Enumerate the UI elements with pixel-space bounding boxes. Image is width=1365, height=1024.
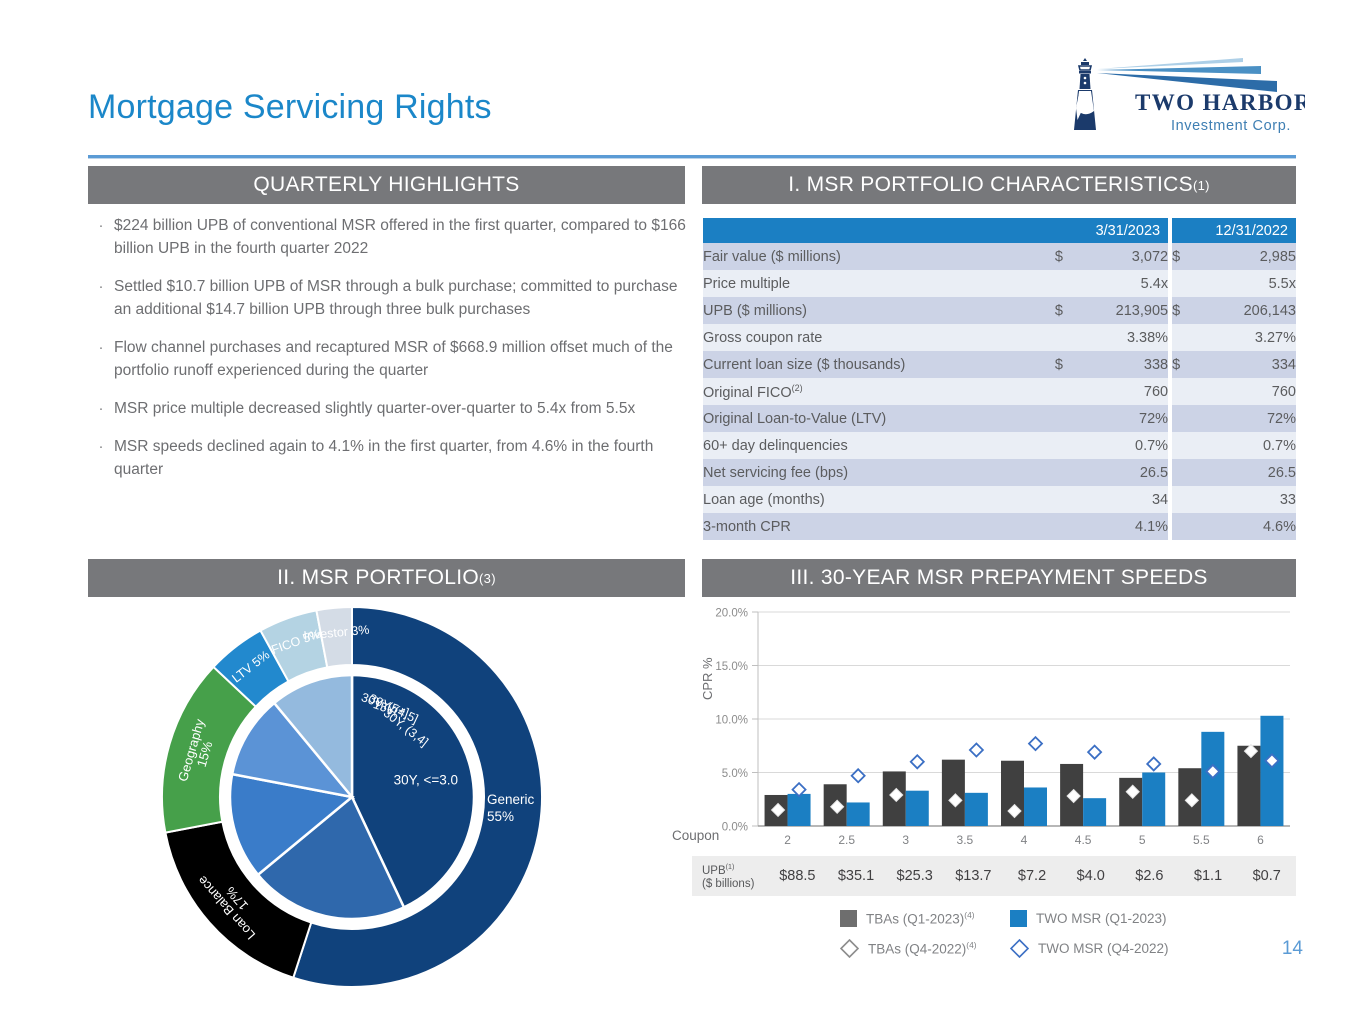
footnote-marker: (4) bbox=[964, 910, 974, 920]
highlight-bullet: ·MSR price multiple decreased slightly q… bbox=[88, 397, 688, 420]
table-cell-value-prior: 26.5 bbox=[1194, 459, 1296, 486]
table-cell-currency bbox=[1055, 486, 1077, 513]
table-row: 3-month CPR4.1%4.6% bbox=[703, 513, 1296, 540]
legend-item[interactable]: TWO MSR (Q1-2023) bbox=[1010, 910, 1200, 927]
table-cell-value-current: 3.38% bbox=[1077, 324, 1168, 351]
table-row: Price multiple5.4x5.5x bbox=[703, 270, 1296, 297]
table-cell-label-text: Original FICO bbox=[703, 384, 792, 400]
bar-two-msr-q1[interactable] bbox=[1260, 716, 1283, 826]
col-header-metric bbox=[703, 218, 1055, 243]
legend-label: TWO MSR (Q4-2022) bbox=[1038, 941, 1169, 956]
legend-square-icon bbox=[840, 910, 857, 927]
donut-inner-slice-label: 30Y, <=3.0 bbox=[394, 772, 458, 787]
legend-label: TBAs (Q1-2023)(4) bbox=[866, 910, 975, 927]
table-cell-value-prior: 33 bbox=[1194, 486, 1296, 513]
upb-values: $88.5$35.1$25.3$13.7$7.2$4.0$2.6$1.1$0.7 bbox=[768, 868, 1296, 884]
table-cell-currency bbox=[1055, 405, 1077, 432]
prepayment-speeds-chart: 0.0%5.0%10.0%15.0%20.0%22.533.544.555.56 bbox=[690, 600, 1305, 860]
bar-two-msr-q1[interactable] bbox=[788, 794, 811, 826]
light-beam-icon bbox=[1097, 58, 1277, 92]
marker-two-msr-q4[interactable] bbox=[1147, 757, 1160, 770]
table-row: Loan age (months)3433 bbox=[703, 486, 1296, 513]
table-cell-value-prior: 2,985 bbox=[1194, 243, 1296, 270]
upb-value: $35.1 bbox=[827, 868, 886, 884]
bar-two-msr-q1[interactable] bbox=[906, 791, 929, 826]
table-cell-currency bbox=[1172, 486, 1194, 513]
marker-two-msr-q4[interactable] bbox=[911, 755, 924, 768]
table-cell-value-prior: 5.5x bbox=[1194, 270, 1296, 297]
upb-value: $0.7 bbox=[1237, 868, 1296, 884]
table-cell-label: UPB ($ millions) bbox=[703, 297, 1055, 324]
upb-units-text: ($ billions) bbox=[702, 878, 754, 890]
y-tick-label: 20.0% bbox=[715, 608, 748, 620]
table-header-row: 3/31/2023 12/31/2022 bbox=[703, 218, 1296, 243]
highlight-bullet: ·$224 billion UPB of conventional MSR of… bbox=[88, 214, 688, 260]
highlight-bullet-text: MSR price multiple decreased slightly qu… bbox=[114, 397, 688, 420]
upb-value: $1.1 bbox=[1179, 868, 1238, 884]
marker-two-msr-q4[interactable] bbox=[970, 744, 983, 757]
table-cell-value-current: 34 bbox=[1077, 486, 1168, 513]
table-cell-currency: $ bbox=[1055, 351, 1077, 378]
table-cell-value-current: 4.1% bbox=[1077, 513, 1168, 540]
lighthouse-icon bbox=[1074, 58, 1096, 130]
table-row: 60+ day delinquencies0.7%0.7% bbox=[703, 432, 1296, 459]
footnote-marker: (2) bbox=[792, 383, 803, 393]
highlight-bullet-text: Flow channel purchases and recaptured MS… bbox=[114, 336, 688, 382]
table-cell-label: Net servicing fee (bps) bbox=[703, 459, 1055, 486]
bullet-dot-icon: · bbox=[88, 397, 114, 420]
svg-text:30Y, <=3.0: 30Y, <=3.0 bbox=[394, 772, 458, 787]
legend-diamond-icon bbox=[840, 939, 859, 958]
msr-characteristics-table: 3/31/2023 12/31/2022 Fair value ($ milli… bbox=[703, 218, 1296, 540]
x-tick-label: 3.5 bbox=[957, 833, 974, 847]
legend-diamond-icon bbox=[1010, 939, 1029, 958]
msr-portfolio-donut-chart: Generic55%Loan Balance17%Geography15%LTV… bbox=[120, 600, 660, 1000]
table-cell-currency bbox=[1172, 432, 1194, 459]
bullet-dot-icon: · bbox=[88, 435, 114, 481]
table-cell-value-current: 213,905 bbox=[1077, 297, 1168, 324]
legend-item[interactable]: TBAs (Q4-2022)(4) bbox=[840, 939, 1010, 958]
bar-tbas-q1[interactable] bbox=[1237, 746, 1260, 826]
upb-row: UPB(1) ($ billions) $88.5$35.1$25.3$13.7… bbox=[692, 856, 1296, 896]
table-cell-label: Loan age (months) bbox=[703, 486, 1055, 513]
table-cell-label: 3-month CPR bbox=[703, 513, 1055, 540]
table-row: Gross coupon rate3.38%3.27% bbox=[703, 324, 1296, 351]
table-cell-value-current: 338 bbox=[1077, 351, 1168, 378]
bar-two-msr-q1[interactable] bbox=[1142, 773, 1165, 827]
table-cell-currency: $ bbox=[1055, 297, 1077, 324]
y-tick-label: 0.0% bbox=[722, 822, 748, 834]
highlight-bullet-text: MSR speeds declined again to 4.1% in the… bbox=[114, 435, 688, 481]
table-cell-value-current: 72% bbox=[1077, 405, 1168, 432]
bar-chart-svg: 0.0%5.0%10.0%15.0%20.0%22.533.544.555.56 bbox=[690, 600, 1305, 850]
section-header-label: III. 30-YEAR MSR PREPAYMENT SPEEDS bbox=[790, 566, 1207, 590]
section-header-prepayment-speeds: III. 30-YEAR MSR PREPAYMENT SPEEDS bbox=[702, 559, 1296, 597]
table-cell-value-current: 0.7% bbox=[1077, 432, 1168, 459]
table-cell-value-prior: 760 bbox=[1194, 378, 1296, 405]
table-cell-label: Current loan size ($ thousands) bbox=[703, 351, 1055, 378]
bar-two-msr-q1[interactable] bbox=[965, 793, 988, 826]
table-cell-currency bbox=[1055, 324, 1077, 351]
table-cell-currency bbox=[1172, 324, 1194, 351]
highlight-bullet-text: Settled $10.7 billion UPB of MSR through… bbox=[114, 275, 688, 321]
marker-two-msr-q4[interactable] bbox=[1029, 737, 1042, 750]
table-cell-currency bbox=[1055, 459, 1077, 486]
table-cell-label: Gross coupon rate bbox=[703, 324, 1055, 351]
table-cell-value-prior: 334 bbox=[1194, 351, 1296, 378]
bullet-dot-icon: · bbox=[88, 275, 114, 321]
table-row: Original Loan-to-Value (LTV)72%72% bbox=[703, 405, 1296, 432]
upb-value: $13.7 bbox=[944, 868, 1003, 884]
table-cell-label: Fair value ($ millions) bbox=[703, 243, 1055, 270]
table-cell-value-current: 3,072 bbox=[1077, 243, 1168, 270]
table-row: UPB ($ millions)$213,905$206,143 bbox=[703, 297, 1296, 324]
bar-two-msr-q1[interactable] bbox=[1083, 798, 1106, 826]
legend-label: TBAs (Q4-2022)(4) bbox=[868, 940, 977, 957]
two-harbors-logo: TWO HARBORS Investment Corp. bbox=[1065, 48, 1305, 144]
upb-value: $7.2 bbox=[1003, 868, 1062, 884]
table-cell-value-current: 760 bbox=[1077, 378, 1168, 405]
x-tick-label: 5.5 bbox=[1193, 833, 1210, 847]
table-cell-value-prior: 4.6% bbox=[1194, 513, 1296, 540]
table-cell-currency bbox=[1172, 270, 1194, 297]
section-header-quarterly-highlights: QUARTERLY HIGHLIGHTS bbox=[88, 166, 685, 204]
logo-svg: TWO HARBORS Investment Corp. bbox=[1065, 48, 1305, 144]
upb-value: $2.6 bbox=[1120, 868, 1179, 884]
legend-label: TWO MSR (Q1-2023) bbox=[1036, 911, 1167, 926]
table-cell-currency bbox=[1172, 513, 1194, 540]
table-cell-currency bbox=[1055, 378, 1077, 405]
table-cell-value-prior: 3.27% bbox=[1194, 324, 1296, 351]
page-title: Mortgage Servicing Rights bbox=[88, 88, 492, 127]
table-cell-currency: $ bbox=[1172, 243, 1194, 270]
bullet-dot-icon: · bbox=[88, 214, 114, 260]
table-cell-currency bbox=[1055, 432, 1077, 459]
highlight-bullet: ·Flow channel purchases and recaptured M… bbox=[88, 336, 688, 382]
highlight-bullet-text: $224 billion UPB of conventional MSR off… bbox=[114, 214, 688, 260]
table-cell-currency: $ bbox=[1172, 297, 1194, 324]
upb-value: $25.3 bbox=[885, 868, 944, 884]
y-tick-label: 5.0% bbox=[722, 768, 748, 780]
table-cell-currency bbox=[1172, 378, 1194, 405]
table-head: 3/31/2023 12/31/2022 bbox=[703, 218, 1296, 243]
x-tick-label: 4.5 bbox=[1075, 833, 1092, 847]
table-cell-label: Price multiple bbox=[703, 270, 1055, 297]
table-cell-value-current: 5.4x bbox=[1077, 270, 1168, 297]
table-cell-currency bbox=[1055, 513, 1077, 540]
legend-item[interactable]: TWO MSR (Q4-2022) bbox=[1010, 939, 1200, 958]
bar-tbas-q1[interactable] bbox=[1119, 778, 1142, 826]
table-cell-value-prior: 0.7% bbox=[1194, 432, 1296, 459]
legend-square-icon bbox=[1010, 910, 1027, 927]
upb-row-label: UPB(1) ($ billions) bbox=[692, 861, 768, 891]
table-cell-value-prior: 72% bbox=[1194, 405, 1296, 432]
y-tick-label: 15.0% bbox=[715, 661, 748, 673]
table-row: Net servicing fee (bps)26.526.5 bbox=[703, 459, 1296, 486]
section-header-label: II. MSR PORTFOLIO bbox=[277, 566, 479, 590]
x-tick-label: 3 bbox=[902, 833, 909, 847]
table-cell-currency bbox=[1172, 459, 1194, 486]
highlight-bullet: ·MSR speeds declined again to 4.1% in th… bbox=[88, 435, 688, 481]
footnote-marker: (4) bbox=[966, 940, 976, 950]
section-header-msr-portfolio-characteristics: I. MSR PORTFOLIO CHARACTERISTICS(1) bbox=[702, 166, 1296, 204]
table-cell-value-current: 26.5 bbox=[1077, 459, 1168, 486]
x-tick-label: 4 bbox=[1021, 833, 1028, 847]
upb-label-text: UPB bbox=[702, 865, 726, 877]
col-header-current: 3/31/2023 bbox=[1055, 218, 1168, 243]
section-header-msr-portfolio: II. MSR PORTFOLIO(3) bbox=[88, 559, 685, 597]
page-number: 14 bbox=[1282, 938, 1303, 960]
highlight-bullet: ·Settled $10.7 billion UPB of MSR throug… bbox=[88, 275, 688, 321]
upb-footnote-marker: (1) bbox=[726, 863, 735, 871]
x-tick-label: 2.5 bbox=[838, 833, 855, 847]
marker-two-msr-q4[interactable] bbox=[852, 769, 865, 782]
bar-two-msr-q1[interactable] bbox=[847, 802, 870, 826]
table-cell-currency: $ bbox=[1055, 243, 1077, 270]
section-header-label: I. MSR PORTFOLIO CHARACTERISTICS bbox=[788, 173, 1193, 197]
bullet-dot-icon: · bbox=[88, 336, 114, 382]
chart-legend: TBAs (Q1-2023)(4)TWO MSR (Q1-2023) TBAs … bbox=[840, 910, 1240, 958]
x-tick-label: 2 bbox=[784, 833, 791, 847]
x-tick-label: 5 bbox=[1139, 833, 1146, 847]
table-cell-currency: $ bbox=[1172, 351, 1194, 378]
x-tick-label: 6 bbox=[1257, 833, 1264, 847]
table-row: Current loan size ($ thousands)$338$334 bbox=[703, 351, 1296, 378]
y-tick-label: 10.0% bbox=[715, 715, 748, 727]
section-header-label: QUARTERLY HIGHLIGHTS bbox=[253, 173, 519, 197]
bar-two-msr-q1[interactable] bbox=[1024, 787, 1047, 826]
table-cell-currency bbox=[1055, 270, 1077, 297]
table-row: Fair value ($ millions)$3,072$2,985 bbox=[703, 243, 1296, 270]
table-cell-currency bbox=[1172, 405, 1194, 432]
table-row: Original FICO(2)760760 bbox=[703, 378, 1296, 405]
title-divider-light bbox=[88, 158, 1296, 159]
upb-value: $4.0 bbox=[1061, 868, 1120, 884]
footnote-marker: (1) bbox=[1193, 178, 1210, 193]
quarterly-highlights-list: ·$224 billion UPB of conventional MSR of… bbox=[88, 214, 688, 496]
table-cell-label: Original FICO(2) bbox=[703, 378, 1055, 405]
donut-svg: Generic55%Loan Balance17%Geography15%LTV… bbox=[120, 600, 660, 1000]
legend-item[interactable]: TBAs (Q1-2023)(4) bbox=[840, 910, 1010, 927]
bar-tbas-q1[interactable] bbox=[942, 760, 965, 826]
table-body: Fair value ($ millions)$3,072$2,985Price… bbox=[703, 243, 1296, 540]
marker-two-msr-q4[interactable] bbox=[1088, 746, 1101, 759]
logo-tagline: Investment Corp. bbox=[1171, 118, 1291, 134]
table-cell-label: 60+ day delinquencies bbox=[703, 432, 1055, 459]
table-cell-value-prior: 206,143 bbox=[1194, 297, 1296, 324]
col-header-prior: 12/31/2022 bbox=[1172, 218, 1296, 243]
logo-wordmark: TWO HARBORS bbox=[1135, 90, 1305, 115]
upb-value: $88.5 bbox=[768, 868, 827, 884]
table-cell-label: Original Loan-to-Value (LTV) bbox=[703, 405, 1055, 432]
footnote-marker: (3) bbox=[479, 571, 496, 586]
